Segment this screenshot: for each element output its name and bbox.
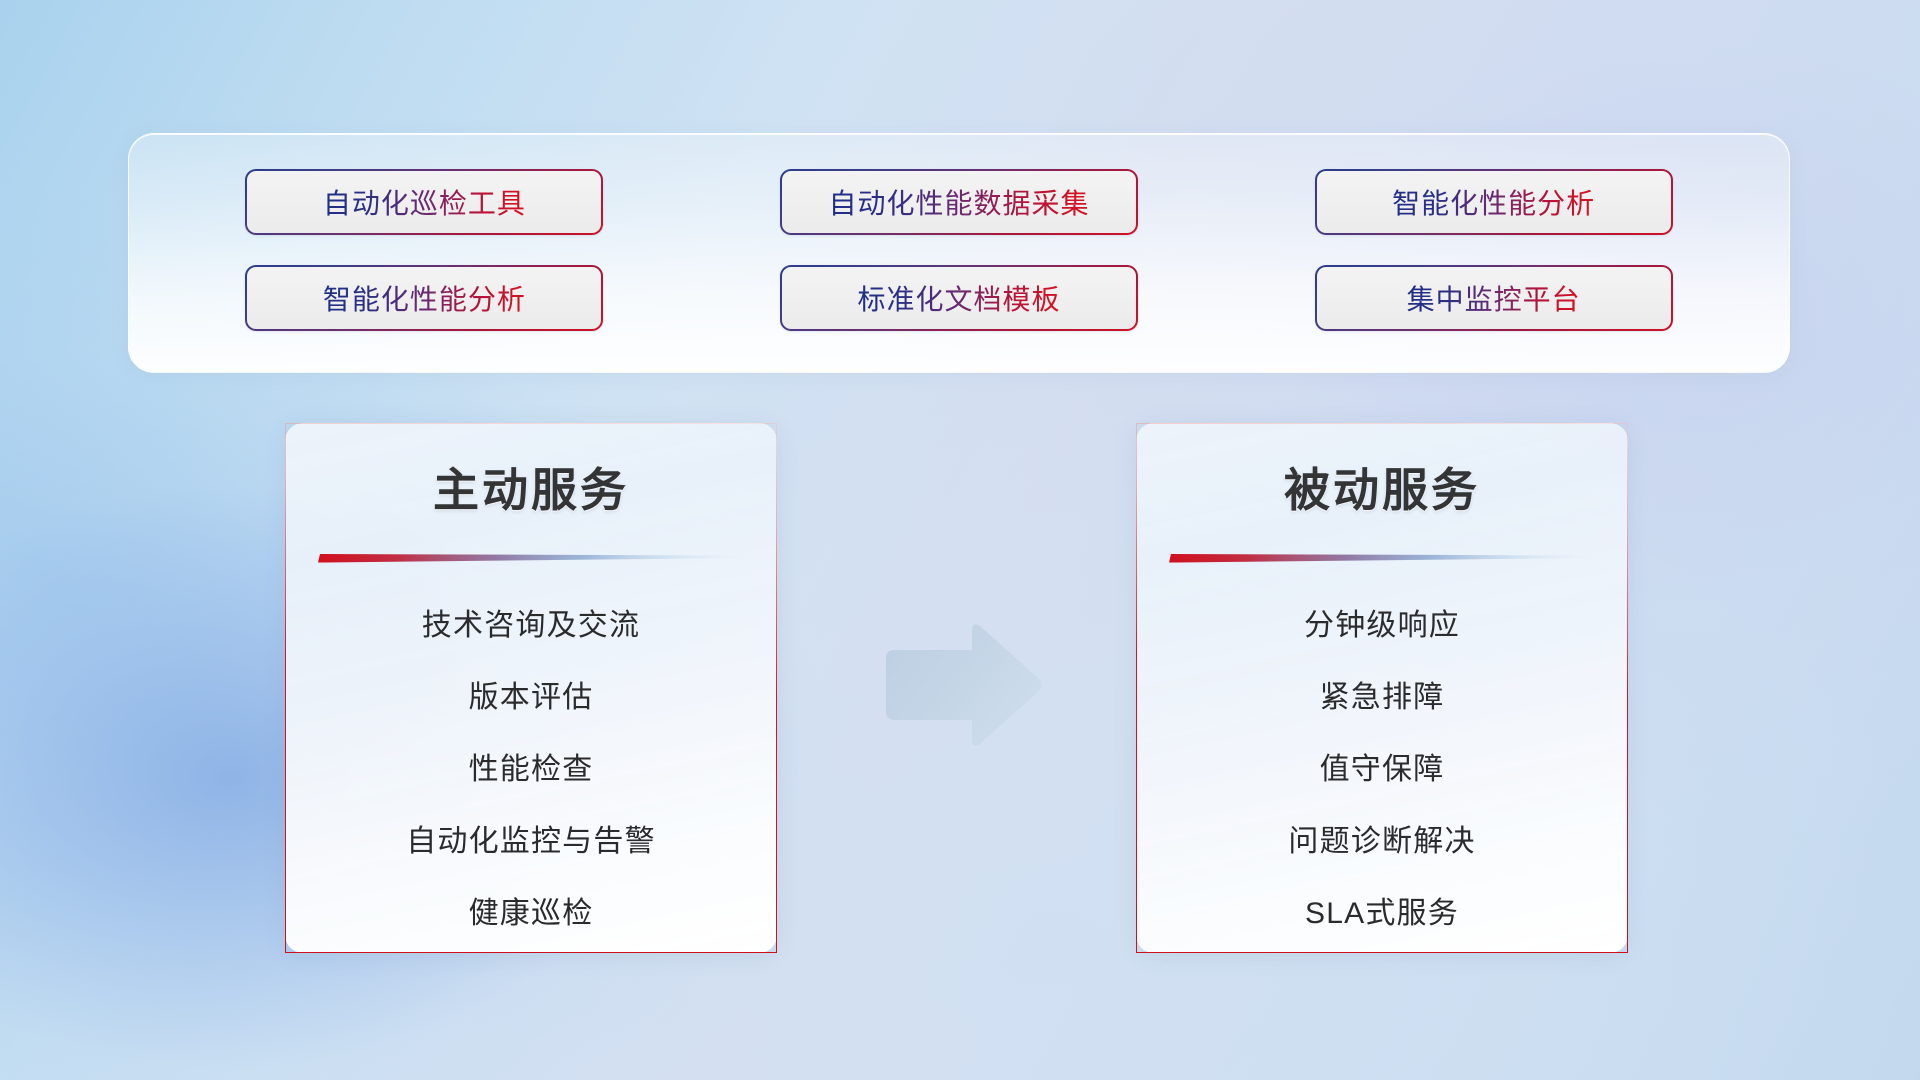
capability-tag[interactable]: 智能化性能分析 [245, 265, 603, 331]
card-title: 主动服务 [433, 454, 629, 520]
capability-panel: 自动化巡检工具 自动化性能数据采集 智能化性能分析 智能化性能分析 [128, 133, 1790, 373]
service-card-proactive[interactable]: 主动服务 技术咨询及交流 版本评估 性能检查 自动化监控与告警 健康巡检 [285, 423, 777, 953]
capability-tag-label: 智能化性能分析 [1392, 182, 1595, 222]
capability-tag-label: 集中监控平台 [1407, 278, 1581, 318]
capability-tag-label: 标准化文档模板 [857, 278, 1060, 318]
card-list-item: 问题诊断解决 [1288, 806, 1475, 878]
card-item-list: 分钟级响应 紧急排障 值守保障 问题诊断解决 SLA式服务 [1137, 590, 1627, 950]
capability-tag-inner: 智能化性能分析 [1317, 171, 1671, 233]
capability-tag-inner: 标准化文档模板 [782, 267, 1136, 329]
capability-tag-inner: 集中监控平台 [1317, 267, 1671, 329]
card-list-item: 紧急排障 [1320, 662, 1445, 734]
card-list-item: 版本评估 [469, 662, 594, 734]
right-arrow-icon [876, 620, 1046, 752]
card-list-item: 性能检查 [469, 734, 594, 806]
card-list-item: 值守保障 [1320, 734, 1445, 806]
card-list-item: SLA式服务 [1305, 878, 1459, 950]
capability-tag-inner: 智能化性能分析 [247, 267, 601, 329]
capability-tag-inner: 自动化性能数据采集 [782, 171, 1136, 233]
capability-tag[interactable]: 集中监控平台 [1315, 265, 1673, 331]
capability-tag[interactable]: 自动化性能数据采集 [780, 169, 1138, 235]
capability-tag[interactable]: 自动化巡检工具 [245, 169, 603, 235]
card-list-item: 健康巡检 [469, 878, 594, 950]
card-title: 被动服务 [1284, 454, 1480, 520]
capability-tag[interactable]: 标准化文档模板 [780, 265, 1138, 331]
capability-tag-label: 智能化性能分析 [323, 278, 526, 318]
card-item-list: 技术咨询及交流 版本评估 性能检查 自动化监控与告警 健康巡检 [286, 590, 776, 950]
capability-tag-label: 自动化性能数据采集 [828, 182, 1089, 222]
card-title-divider [1167, 550, 1597, 566]
capability-tag-grid: 自动化巡检工具 自动化性能数据采集 智能化性能分析 智能化性能分析 [129, 134, 1789, 372]
card-list-item: 技术咨询及交流 [422, 590, 640, 662]
service-card-reactive[interactable]: 被动服务 分钟级响应 紧急排障 值守保障 问题诊断解决 SLA式服务 [1136, 423, 1628, 953]
card-title-divider [316, 550, 746, 566]
capability-tag-inner: 自动化巡检工具 [247, 171, 601, 233]
card-list-item: 自动化监控与告警 [406, 806, 656, 878]
card-list-item: 分钟级响应 [1304, 590, 1460, 662]
capability-tag-label: 自动化巡检工具 [323, 182, 526, 222]
capability-tag[interactable]: 智能化性能分析 [1315, 169, 1673, 235]
slide-canvas: 自动化巡检工具 自动化性能数据采集 智能化性能分析 智能化性能分析 [0, 0, 1920, 1080]
